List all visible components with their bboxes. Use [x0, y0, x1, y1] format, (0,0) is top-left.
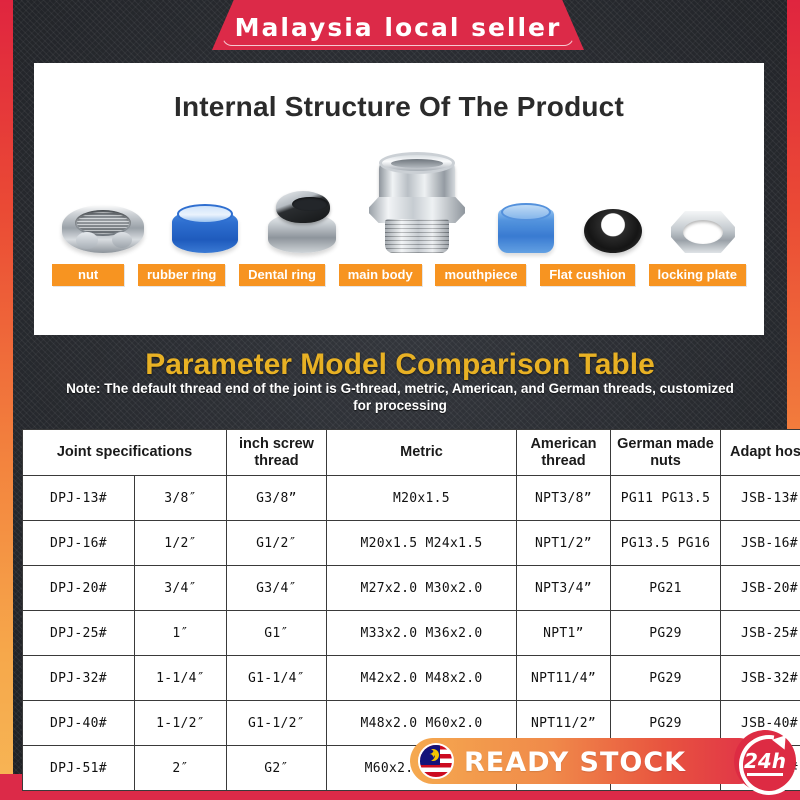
- cell-american: NPT1/2”: [517, 521, 611, 566]
- part-image-dental-ring: [265, 153, 339, 253]
- cell-g-thread: G3/8”: [227, 476, 327, 521]
- cell-hose: JSB-20#: [721, 566, 800, 611]
- cell-metric: M27x2.0 M30x2.0: [327, 566, 517, 611]
- table-row: DPJ-13#3/8″G3/8”M20x1.5NPT3/8”PG11 PG13.…: [23, 476, 800, 521]
- cell-model: DPJ-32#: [23, 656, 135, 701]
- cell-model: DPJ-25#: [23, 611, 135, 656]
- cell-american: NPT3/8”: [517, 476, 611, 521]
- cell-hose: JSB-13#: [721, 476, 800, 521]
- column-header-american-thread: American thread: [517, 430, 611, 476]
- cell-hose: JSB-16#: [721, 521, 800, 566]
- part-label-locking-plate: locking plate: [649, 264, 746, 286]
- cell-g-thread: G2″: [227, 746, 327, 791]
- product-part-labels: nut rubber ring Dental ring main body mo…: [34, 261, 764, 289]
- cell-german: PG29: [611, 611, 721, 656]
- part-label-mouthpiece: mouthpiece: [435, 264, 526, 286]
- infographic-page: Malaysia local seller Internal Structure…: [0, 0, 800, 800]
- table-row: DPJ-25#1″G1″M33x2.0 M36x2.0NPT1”PG29JSB-…: [23, 611, 800, 656]
- cell-model: DPJ-20#: [23, 566, 135, 611]
- product-card-title: Internal Structure Of The Product: [34, 63, 764, 123]
- malaysia-flag-icon: ✦: [418, 743, 454, 779]
- section-note: Note: The default thread end of the join…: [60, 381, 740, 415]
- section-title: Parameter Model Comparison Table: [0, 348, 800, 382]
- cell-g-thread: G1/2″: [227, 521, 327, 566]
- cell-inch: 1-1/2″: [135, 701, 227, 746]
- column-header-inch-screw-thread: inch screw thread: [227, 430, 327, 476]
- cell-metric: M33x2.0 M36x2.0: [327, 611, 517, 656]
- cell-metric: M42x2.0 M48x2.0: [327, 656, 517, 701]
- part-label-nut: nut: [52, 264, 124, 286]
- cell-inch: 1″: [135, 611, 227, 656]
- ready-stock-badge: ✦ READY STOCK 24h: [410, 730, 800, 792]
- cell-german: PG13.5 PG16: [611, 521, 721, 566]
- cell-model: DPJ-13#: [23, 476, 135, 521]
- cell-german: PG11 PG13.5: [611, 476, 721, 521]
- cell-inch: 3/4″: [135, 566, 227, 611]
- table-row: DPJ-32#1-1/4″G1-1/4″M42x2.0 M48x2.0NPT11…: [23, 656, 800, 701]
- part-image-mouthpiece: [495, 153, 557, 253]
- cell-hose: JSB-32#: [721, 656, 800, 701]
- table-header-row: Joint specifications inch screw thread M…: [23, 430, 800, 476]
- table-row: DPJ-16#1/2″G1/2″M20x1.5 M24x1.5NPT1/2”PG…: [23, 521, 800, 566]
- product-parts-row: [34, 141, 764, 253]
- cell-g-thread: G3/4″: [227, 566, 327, 611]
- cell-metric: M20x1.5 M24x1.5: [327, 521, 517, 566]
- part-image-flat-cushion: [582, 153, 644, 253]
- cell-hose: JSB-25#: [721, 611, 800, 656]
- part-image-locking-plate: [668, 153, 738, 253]
- cell-g-thread: G1-1/2″: [227, 701, 327, 746]
- cell-american: NPT11/4”: [517, 656, 611, 701]
- cell-inch: 2″: [135, 746, 227, 791]
- banner-text: Malaysia local seller: [235, 13, 562, 50]
- part-label-rubber-ring: rubber ring: [138, 264, 225, 286]
- cell-inch: 3/8″: [135, 476, 227, 521]
- part-label-main-body: main body: [339, 264, 422, 286]
- column-header-german-made-nuts: German made nuts: [611, 430, 721, 476]
- cell-german: PG21: [611, 566, 721, 611]
- column-header-joint-specifications: Joint specifications: [23, 430, 227, 476]
- left-edge-gradient-strip: [0, 0, 13, 800]
- cell-model: DPJ-40#: [23, 701, 135, 746]
- 24h-badge-icon: 24h: [734, 730, 796, 792]
- column-header-adapt-hose: Adapt hose: [721, 430, 800, 476]
- cell-american: NPT1”: [517, 611, 611, 656]
- part-label-dental-ring: Dental ring: [239, 264, 325, 286]
- product-structure-card: Internal Structure Of The Product: [34, 63, 764, 335]
- cell-g-thread: G1-1/4″: [227, 656, 327, 701]
- cell-german: PG29: [611, 656, 721, 701]
- ready-stock-pill: ✦ READY STOCK: [410, 738, 762, 784]
- cell-american: NPT3/4”: [517, 566, 611, 611]
- part-image-rubber-ring: [170, 153, 240, 253]
- cell-model: DPJ-51#: [23, 746, 135, 791]
- part-label-flat-cushion: Flat cushion: [540, 264, 635, 286]
- cell-model: DPJ-16#: [23, 521, 135, 566]
- column-header-metric: Metric: [327, 430, 517, 476]
- 24h-label: 24h: [744, 749, 786, 773]
- cell-metric: M20x1.5: [327, 476, 517, 521]
- cell-g-thread: G1″: [227, 611, 327, 656]
- part-image-main-body: [363, 153, 471, 253]
- malaysia-local-seller-banner: Malaysia local seller: [212, 0, 584, 50]
- cell-inch: 1/2″: [135, 521, 227, 566]
- table-row: DPJ-20#3/4″G3/4″M27x2.0 M30x2.0NPT3/4”PG…: [23, 566, 800, 611]
- part-image-nut: [60, 153, 146, 253]
- cell-inch: 1-1/4″: [135, 656, 227, 701]
- ready-stock-text: READY STOCK: [464, 747, 686, 778]
